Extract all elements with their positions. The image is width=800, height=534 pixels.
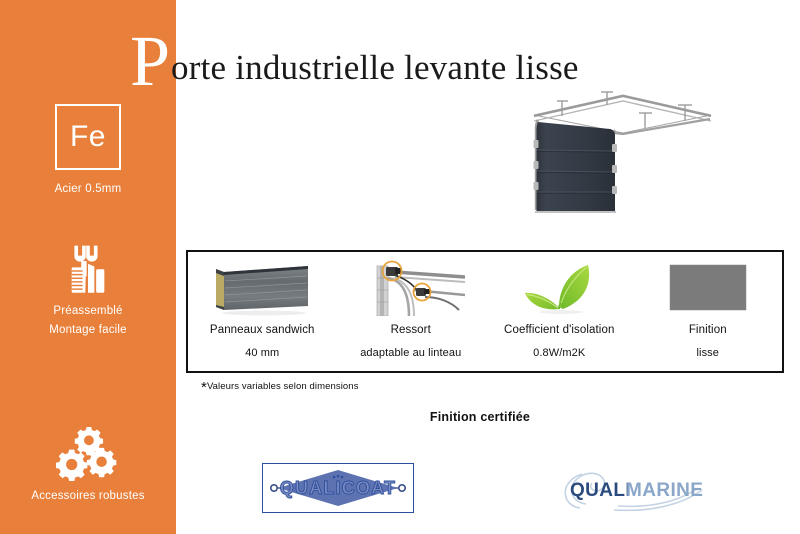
- finish-swatch-grey: [665, 258, 751, 318]
- footnote: *Valeurs variables selon dimensions: [201, 381, 359, 392]
- qualimarine-logo: QUALI MARINE: [556, 462, 716, 514]
- fe-element-square-icon: Fe: [55, 104, 121, 170]
- sandwich-panel-image: [208, 258, 316, 318]
- feature-cell-insulation: Coefficient d'isolation 0.8W/m2K: [485, 252, 634, 371]
- sidebar-item-preassembled-label-1: Préassemblé: [0, 302, 176, 321]
- feature-value-spring: adaptable au linteau: [360, 347, 461, 359]
- certification-title: Finition certifiée: [0, 410, 800, 424]
- sidebar-item-steel-label: Acier 0.5mm: [0, 180, 176, 199]
- wrench-tools-icon: [0, 240, 176, 302]
- spring-mechanism-image: [355, 258, 467, 318]
- feature-title-finish: Finition: [689, 324, 727, 336]
- feature-title-spring: Ressort: [391, 324, 431, 336]
- sidebar-item-preassembled-label-2: Montage facile: [0, 321, 176, 340]
- page-title: P orte industrielle levante lisse: [130, 24, 579, 86]
- fe-symbol-text: Fe: [70, 122, 106, 152]
- feature-cell-finish: Finition lisse: [634, 252, 783, 371]
- page-title-text: orte industrielle levante lisse: [171, 46, 579, 90]
- page-title-initial: P: [130, 30, 170, 92]
- sidebar-item-accessories: Accessoires robustes: [0, 425, 176, 506]
- footnote-marker: *: [201, 379, 207, 396]
- svg-text:QUALI: QUALI: [570, 480, 631, 501]
- sidebar-item-accessories-label: Accessoires robustes: [0, 487, 176, 506]
- industrial-sectional-door-photo: [505, 88, 750, 228]
- feature-cell-sandwich-panel: Panneaux sandwich 40 mm: [188, 252, 337, 371]
- feature-title-insulation: Coefficient d'isolation: [504, 324, 614, 336]
- sidebar-item-preassembled: Préassemblé Montage facile: [0, 240, 176, 340]
- footnote-text: Valeurs variables selon dimensions: [207, 381, 359, 392]
- feature-value-finish: lisse: [696, 347, 719, 359]
- feature-title-sandwich-panel: Panneaux sandwich: [210, 324, 315, 336]
- feature-value-insulation: 0.8W/m2K: [533, 347, 585, 359]
- gears-icon: [0, 425, 176, 487]
- feature-value-sandwich-panel: 40 mm: [245, 347, 279, 359]
- feature-cell-spring: Ressort adaptable au linteau: [337, 252, 486, 371]
- sidebar-item-steel: Fe Acier 0.5mm: [0, 104, 176, 199]
- green-leaves-icon: [516, 258, 602, 318]
- features-panel: Panneaux sandwich 40 mm: [186, 250, 784, 373]
- product-sheet-page: Fe Acier 0.5mm: [0, 0, 800, 534]
- svg-text:QUALICOAT: QUALICOAT: [280, 478, 396, 498]
- qualicoat-logo: QUALICOAT: [262, 463, 414, 513]
- svg-text:MARINE: MARINE: [626, 480, 703, 501]
